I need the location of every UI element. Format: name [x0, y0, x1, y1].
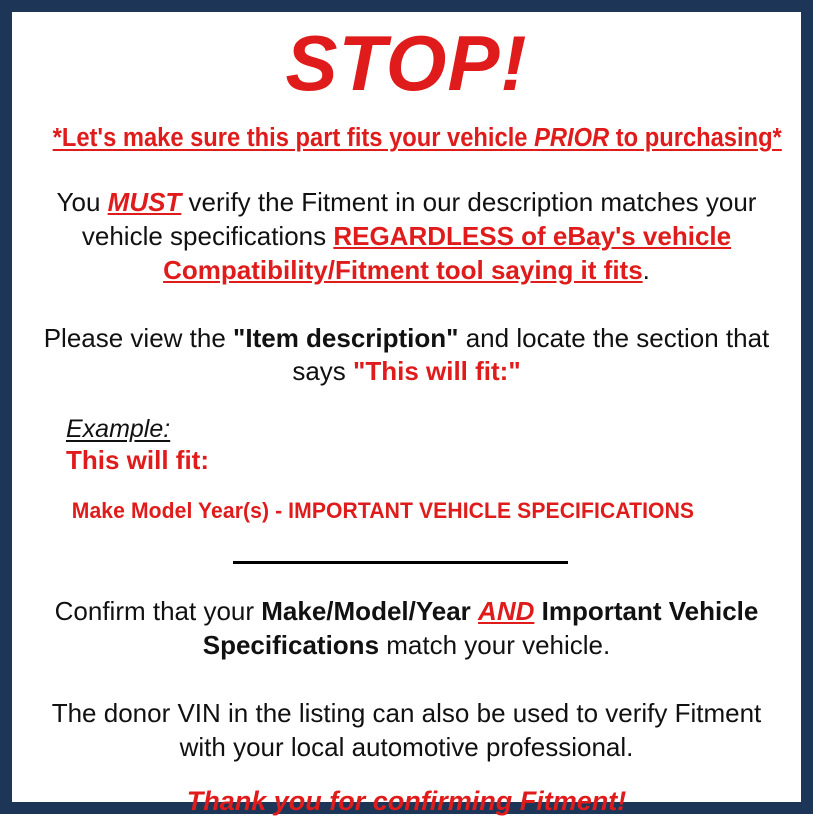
must-part3: .	[643, 255, 650, 285]
notice-content: STOP! *Let's make sure this part fits yo…	[12, 12, 801, 802]
paragraph-view-description: Please view the "Item description" and l…	[26, 288, 787, 390]
view-part1: Please view the	[44, 323, 233, 353]
example-label-row: Example:	[66, 415, 787, 444]
example-block: Example: This will fit: Make Model Year(…	[26, 389, 787, 524]
example-label: Example:	[66, 415, 170, 444]
page-title: STOP!	[26, 16, 787, 100]
confirm-part2	[471, 596, 478, 626]
and-emphasis: AND	[478, 596, 534, 626]
make-model-year-emphasis: Make/Model/Year	[261, 596, 471, 626]
section-divider	[233, 561, 568, 564]
closing-thank-you: Thank you for confirming Fitment!	[26, 764, 787, 817]
example-fit-heading: This will fit:	[66, 444, 787, 476]
fitment-notice-card: STOP! *Let's make sure this part fits yo…	[0, 0, 813, 814]
paragraph-must: You MUST verify the Fitment in our descr…	[26, 152, 787, 287]
confirm-part1: Confirm that your	[55, 596, 262, 626]
subheadline: *Let's make sure this part fits your veh…	[53, 100, 761, 152]
confirm-part3	[534, 596, 541, 626]
subheadline-before: *Let's make sure this part fits your veh…	[53, 124, 534, 152]
subheadline-after: to purchasing*	[609, 124, 782, 152]
must-emphasis: MUST	[108, 187, 182, 217]
divider-wrapper	[26, 524, 787, 569]
confirm-part4: match your vehicle.	[379, 630, 610, 660]
paragraph-vin: The donor VIN in the listing can also be…	[26, 663, 787, 765]
subheadline-emphasis: PRIOR	[534, 124, 609, 152]
this-will-fit-quote: "This will fit:"	[353, 356, 521, 386]
item-description-emphasis: "Item description"	[233, 323, 458, 353]
must-part1: You	[57, 187, 108, 217]
paragraph-confirm: Confirm that your Make/Model/Year AND Im…	[26, 569, 787, 663]
example-spec-line: Make Model Year(s) - IMPORTANT VEHICLE S…	[66, 476, 758, 524]
